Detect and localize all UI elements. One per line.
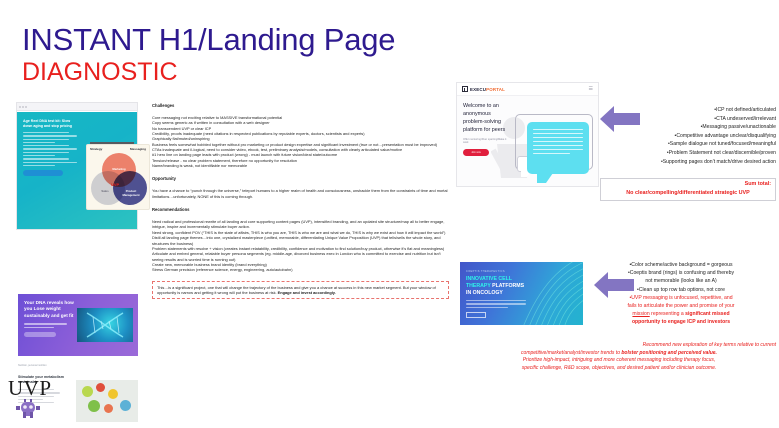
slide-canvas: INSTANT H1/Landing Page DIAGNOSTIC Age R… (0, 0, 779, 428)
venn-label-messaging: Messaging (130, 147, 146, 151)
venn-text-product: Product Management (121, 189, 141, 197)
page-title: INSTANT H1/Landing Page DIAGNOSTIC (22, 22, 395, 87)
recommendation-item: Distil all landing page themes…into one,… (152, 235, 449, 246)
list-item-continued: not memorable (looks like an A) (586, 277, 776, 285)
list-item: Problem Statement not clear/discernible/… (610, 149, 776, 158)
site-header: EXECUPORTAL ☰ (457, 83, 598, 96)
sum-total-label: Sum total: (605, 181, 771, 187)
note-line-4: specific challenge, R&D scope, objective… (522, 365, 717, 371)
uvp-wordmark: UVP (8, 378, 78, 398)
execuportal-wordmark: EXECUPORTAL (470, 87, 505, 92)
recommendation-item: Need radical and professional rewrite of… (152, 219, 449, 230)
sum-total-value: No clear/compelling/differentiated strat… (605, 190, 771, 196)
robot-icon (14, 399, 42, 421)
hero-cta-button[interactable] (23, 170, 63, 176)
screenshot-dna-band: Your DNA reveals how you Lose weight sus… (18, 294, 138, 356)
dna-helix-icon (85, 311, 125, 339)
venn-text-sales: Sales (95, 189, 115, 193)
venn-circle-product (113, 171, 147, 205)
list-item-continued: fails to articulate the power and promis… (586, 302, 776, 310)
list-item: Coeptis brand (rings) is confusing and t… (586, 269, 776, 277)
uvp-brand-logo: UVP (8, 378, 78, 426)
note-line-2a: competitive/market/analyst/investor tren… (521, 350, 621, 356)
callout-bold: Engage and invest accordingly. (278, 290, 336, 295)
hero-headline: INNOVATIVE CELL THERAPY PLATFORMS IN ONC… (466, 276, 532, 297)
list-item: CTA undeserved/irrelevant (610, 115, 776, 124)
primary-chat-bubble (527, 122, 589, 174)
list-item: ICP not defined/articulated (610, 106, 776, 115)
hero-heading: Age Reel DNA test kit: Slow down aging a… (23, 119, 79, 129)
recommendation-item: Stress German precision (reference scien… (152, 267, 449, 272)
hamburger-menu-icon[interactable]: ☰ (589, 86, 593, 92)
bottom-findings-list: Color scheme/active background = gorgeou… (586, 261, 776, 327)
title-main: INSTANT H1/Landing Page (22, 22, 395, 58)
note-line-1: Recommend new exploration of key terms r… (462, 342, 776, 350)
venn-center-uvp: UVP (111, 182, 119, 187)
learn-more-button[interactable] (466, 312, 486, 318)
list-item-continued: opportunity to engage ICP and investors (586, 318, 776, 326)
hero-copy-block: Welcome to an anonymous problem-solving … (463, 102, 511, 156)
list-item: Supporting pages don’t match/drive desir… (610, 158, 776, 167)
recommendation-note: Recommend new exploration of key terms r… (462, 342, 776, 372)
hero-subcopy-placeholder (466, 300, 526, 310)
band-heading: Your DNA reveals how you Lose weight sus… (24, 300, 82, 319)
dna-helix-image (77, 308, 133, 342)
venn-label-strategy: Strategy (90, 147, 102, 151)
list-item: Messaging passive/unactionable (610, 123, 776, 132)
left-website-screenshot-collage: Age Reel DNA test kit: Slow down aging a… (8, 98, 148, 373)
healthy-food-image (76, 380, 138, 422)
title-sub: DIAGNOSTIC (22, 58, 395, 87)
venn-text-marketing: Marketing (109, 167, 129, 171)
list-item: Sample dialogue not tuned/focused/meanin… (610, 140, 776, 149)
hero-body-placeholder (23, 132, 77, 166)
list-item-continued: mission representing a significant misse… (586, 310, 776, 318)
hero-headline: Welcome to an anonymous problem-solving … (463, 102, 511, 134)
sum-total-box: Sum total: No clear/compelling/different… (600, 178, 776, 201)
top-findings-list: ICP not defined/articulated CTA undeserv… (610, 106, 776, 166)
note-line-3: Prioritize high-impact, intriguing and m… (523, 357, 716, 363)
list-item: Clean up top row tab options, not core (586, 286, 776, 294)
closing-callout-box: This…is a significant project, one that … (152, 281, 449, 300)
recommendation-item: Articulate and embed general, relatable … (152, 251, 449, 262)
list-item: Competitive advantage unclear/disqualify… (610, 132, 776, 141)
note-line-2b: bolster positioning and perceived value. (621, 350, 717, 356)
join-now-button[interactable]: Join now (463, 149, 489, 156)
browser-dot-icon (25, 106, 27, 108)
section-eyebrow: Nutrition, personal nutrition (18, 364, 140, 367)
uvp-venn-diagram: Strategy Messaging Marketing Product Man… (86, 144, 150, 210)
hero-subline: Offer mentoring/Peer sparring/Make it wo… (463, 138, 511, 145)
browser-dot-icon (22, 106, 24, 108)
execuportal-screenshot: EXECUPORTAL ☰ Welcome to an anonymous pr… (456, 82, 599, 187)
browser-dot-icon (19, 106, 21, 108)
list-item: Color scheme/active background = gorgeou… (586, 261, 776, 269)
execuportal-logo-icon (462, 86, 468, 92)
browser-chrome-bar (17, 103, 137, 111)
brand-eyebrow: COEPTIS THERAPEUTICS (466, 270, 505, 273)
band-cta-button[interactable] (24, 332, 56, 337)
list-item: UVP messaging is unfocused, repetitive, … (586, 294, 776, 302)
opportunity-text: You have a chance to “punch through the … (152, 188, 449, 199)
coeptis-screenshot: COEPTIS THERAPEUTICS INNOVATIVE CELL THE… (460, 262, 583, 325)
analysis-text-column: Challenges Core messaging not exciting r… (152, 103, 449, 299)
